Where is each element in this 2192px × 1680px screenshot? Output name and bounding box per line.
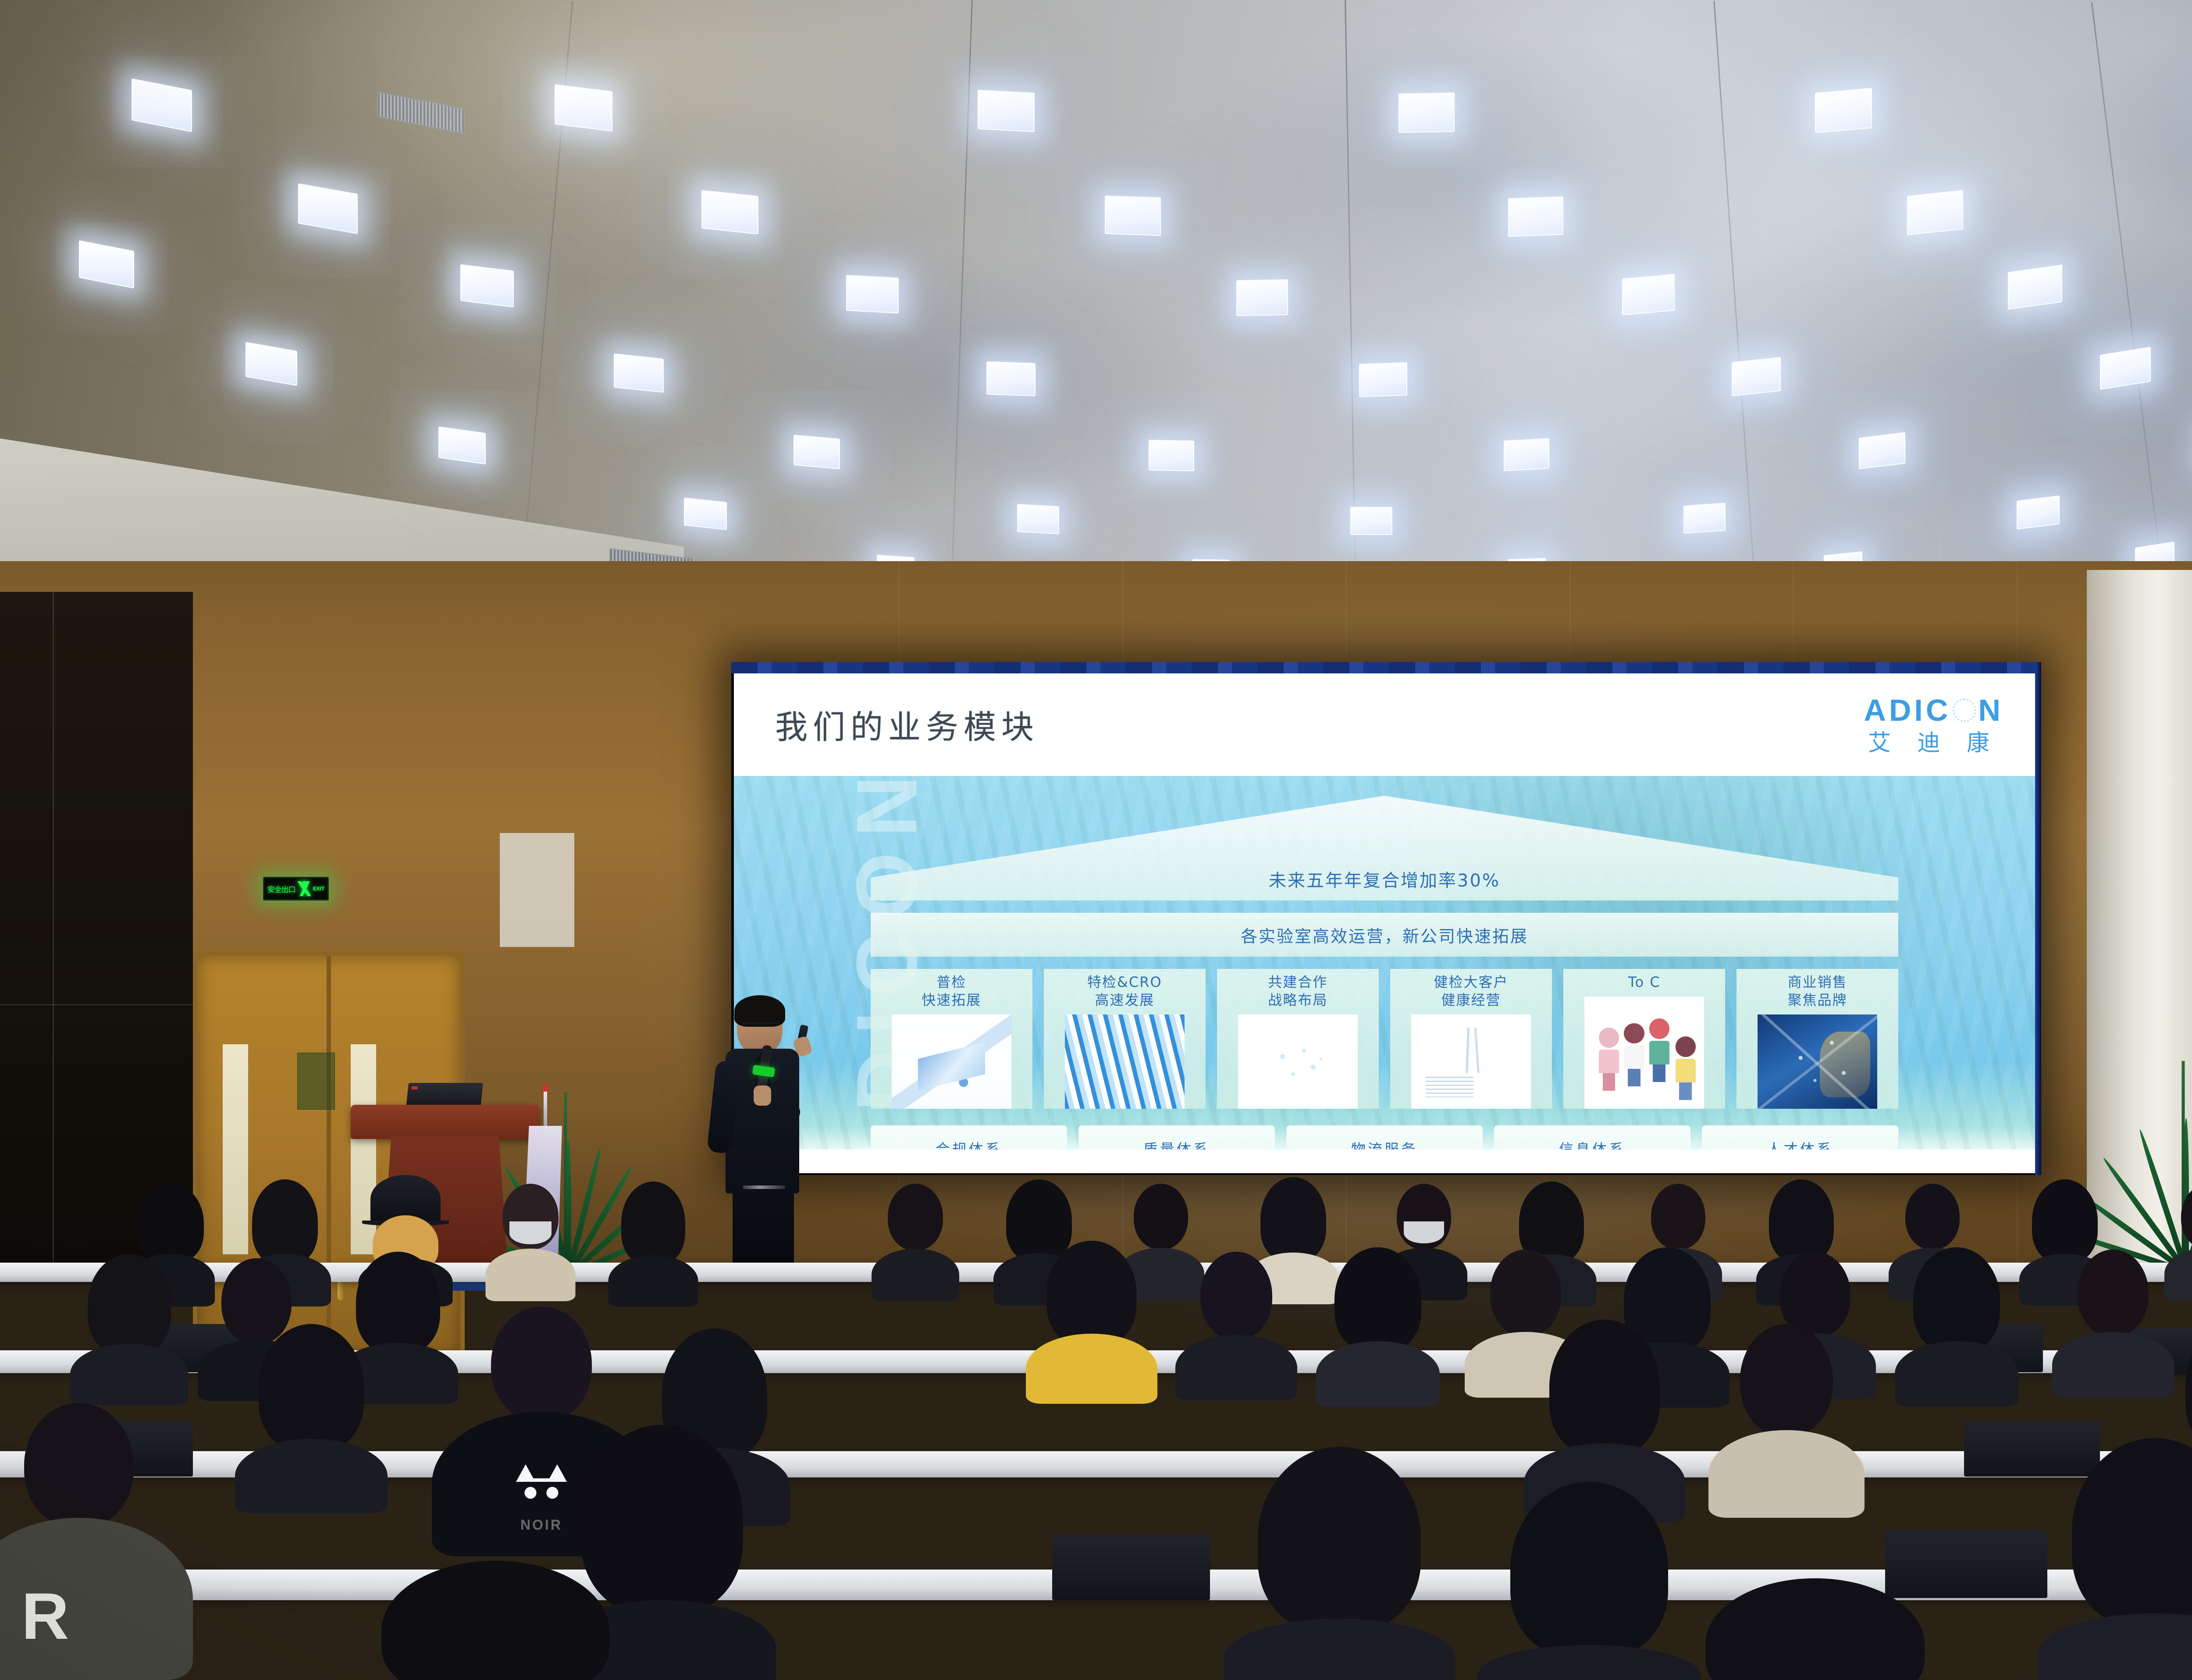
audience-member — [359, 1561, 631, 1680]
audience-member — [2060, 1249, 2166, 1396]
audience-member — [2052, 1438, 2192, 1680]
hoodie-r-graphic: R — [21, 1578, 69, 1654]
hoodie-text: NOIR — [520, 1517, 562, 1533]
audience-member — [1683, 1578, 1946, 1680]
audience-member — [1491, 1482, 1688, 1680]
audience-member — [1184, 1252, 1289, 1396]
audience-member — [1236, 1447, 1442, 1680]
lecture-hall-scene: 安全出口 EXIT 安全出口 EXIT — [0, 0, 2192, 1680]
cat-face-graphic — [515, 1464, 568, 1502]
face-mask — [509, 1221, 552, 1244]
audience-member — [1719, 1324, 1854, 1513]
face-mask — [1404, 1221, 1444, 1243]
audience-member — [877, 1184, 954, 1298]
audience-member-yellow — [1035, 1241, 1149, 1399]
audience-member — [246, 1324, 377, 1499]
audience-member — [1903, 1247, 2010, 1396]
audience-member — [1324, 1247, 1431, 1396]
audience-member — [79, 1254, 180, 1394]
audience: NOIR R — [0, 0, 2192, 1680]
cat-eyes-graphic — [520, 1485, 562, 1500]
audience-member — [614, 1182, 693, 1298]
audience-member — [2170, 1184, 2192, 1298]
audience-member-r-hoodie: R — [0, 1403, 184, 1675]
chair-back — [1052, 1534, 1210, 1600]
audience-member — [491, 1184, 570, 1298]
